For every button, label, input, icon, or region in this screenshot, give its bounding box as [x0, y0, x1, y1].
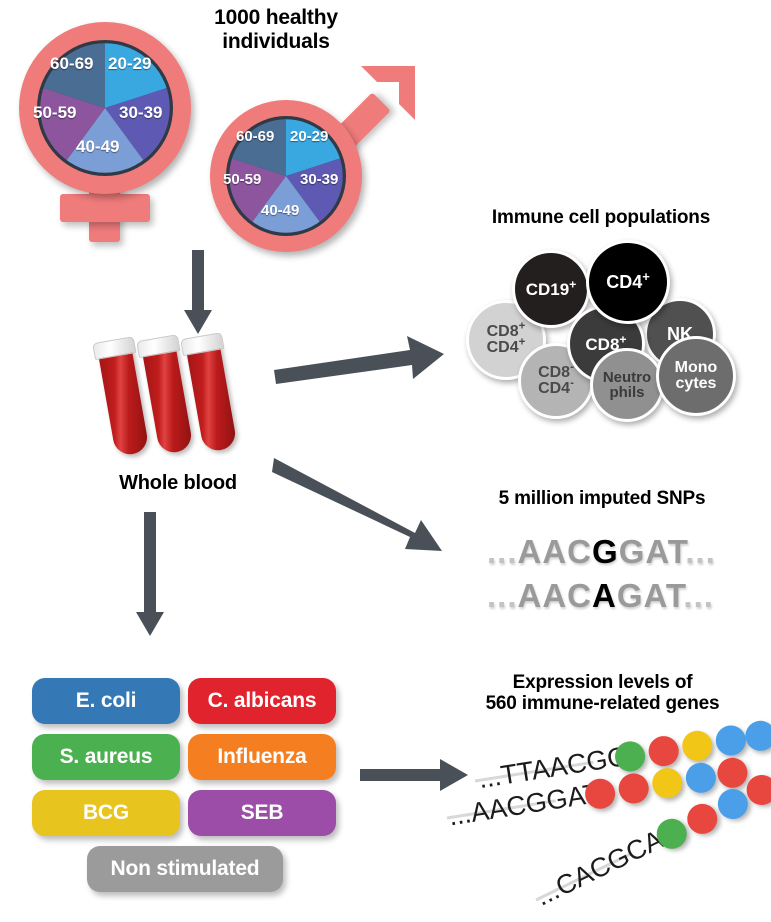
arrow-blood-to-immune — [272, 326, 447, 386]
snp-after: GAT — [617, 577, 684, 614]
immune-cell-cd19-label: CD19+ — [526, 281, 577, 298]
immune-cell-cd8neg-cd4neg-line1: CD8- — [538, 365, 574, 381]
immune-title: Immune cell populations — [436, 207, 766, 228]
arrow-blood-to-snps — [272, 450, 447, 555]
snp-after: GAT — [619, 533, 686, 570]
female-symbol: 20-29 30-39 40-49 50-59 60-69 — [10, 12, 210, 242]
expression-bead — [682, 799, 722, 839]
snp-sequence-row-2: ...AACAGAT... — [487, 577, 714, 615]
immune-cell-monocytes-line2: cytes — [676, 376, 717, 392]
expression-bead — [743, 719, 771, 753]
blood-tube — [142, 343, 194, 455]
whole-blood-label: Whole blood — [78, 472, 278, 495]
male-age-pie-svg — [226, 116, 346, 236]
arrow-stimulation-to-expression — [360, 755, 470, 795]
male-age-pie — [226, 116, 346, 236]
immune-cell-neutrophils-line1: Neutro — [603, 370, 651, 385]
stimulation-pill-e-coli[interactable]: E. coli — [32, 678, 180, 724]
blood-tube-cap — [92, 336, 136, 360]
immune-cell-cd4-label: CD4+ — [606, 273, 650, 291]
snp-title: 5 million imputed SNPs — [452, 488, 752, 509]
expression-bead — [684, 761, 718, 795]
immune-cell-cluster: CD19+ CD4+ CD8+ CD4+ CD8+ NK CD8- CD4- N… — [466, 240, 766, 420]
snp-prefix: ... — [487, 577, 518, 614]
expression-bead — [617, 771, 651, 805]
snp-suffix: ... — [683, 577, 714, 614]
immune-cell-cd8pos-cd4pos-line2: CD4+ — [487, 340, 526, 356]
blood-tube — [98, 345, 150, 457]
female-symbol-crossbar — [60, 194, 150, 222]
expression-bead — [714, 723, 748, 757]
blood-tube-cap — [136, 334, 180, 358]
arrow-blood-to-stimulation — [130, 512, 170, 642]
immune-cell-neutrophils: Neutro phils — [590, 348, 664, 422]
immune-cell-monocytes-line1: Mono — [675, 360, 718, 376]
study-design-figure: 1000 healthy individuals 20-29 30-39 40-… — [0, 0, 771, 922]
blood-tube — [186, 341, 238, 453]
male-symbol-arrowhead — [343, 60, 423, 140]
female-age-pie — [37, 40, 173, 176]
stimulation-pill-c-albicans[interactable]: C. albicans — [188, 678, 336, 724]
stimulation-pill-bcg[interactable]: BCG — [32, 790, 180, 836]
snp-before: AAC — [518, 533, 593, 570]
immune-cell-cd8neg-cd4neg-line2: CD4- — [538, 381, 574, 397]
snp-sequence-row-1: ...AACGGAT... — [487, 533, 716, 571]
stimulation-pill-seb[interactable]: SEB — [188, 790, 336, 836]
expression-title: Expression levels of 560 immune-related … — [440, 672, 765, 715]
immune-cell-cd4: CD4+ — [586, 240, 670, 324]
expression-title-line1: Expression levels of — [440, 672, 765, 693]
snp-before: AAC — [518, 577, 593, 614]
blood-tubes — [112, 338, 262, 463]
expression-title-line2: 560 immune-related genes — [440, 693, 765, 714]
arrow-cohort-to-blood — [178, 250, 218, 340]
expression-bead — [650, 766, 684, 800]
immune-cell-monocytes: Mono cytes — [656, 336, 736, 416]
stimulation-pill-non-stimulated[interactable]: Non stimulated — [87, 846, 283, 892]
immune-cell-neutrophils-line2: phils — [609, 385, 644, 400]
male-symbol: 20-29 30-39 40-49 50-59 60-69 — [205, 62, 420, 252]
snp-variant: A — [592, 577, 617, 614]
stimulation-pill-s-aureus[interactable]: S. aureus — [32, 734, 180, 780]
snp-variant: G — [592, 533, 619, 570]
snp-suffix: ... — [685, 533, 716, 570]
stimulation-pill-influenza[interactable]: Influenza — [188, 734, 336, 780]
female-age-pie-svg — [37, 40, 173, 176]
stimulation-panel: E. coli C. albicans S. aureus Influenza … — [32, 678, 342, 898]
snp-prefix: ... — [487, 533, 518, 570]
